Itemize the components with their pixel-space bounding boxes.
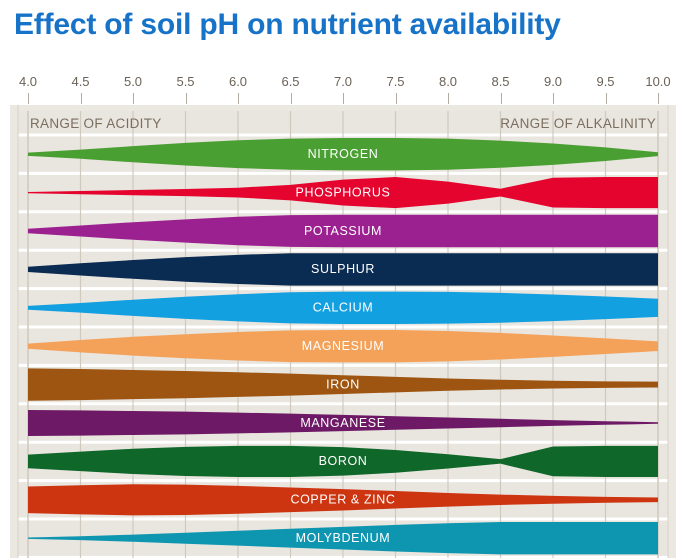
band-label: COPPER & ZINC — [290, 493, 395, 507]
range-of-acidity-label: RANGE OF ACIDITY — [30, 116, 162, 131]
axis-tick-label-7-0: 7.0 — [334, 74, 352, 89]
axis-tick-label-8-5: 8.5 — [491, 74, 509, 89]
axis-tick-label-5-0: 5.0 — [124, 74, 142, 89]
band-label: MOLYBDENUM — [296, 531, 391, 545]
nutrient-band-boron[interactable]: BORON — [28, 446, 658, 477]
soil-ph-chart-page: Effect of soil pH on nutrient availabili… — [0, 0, 685, 558]
axis-tick-label-4-5: 4.5 — [71, 74, 89, 89]
band-label: SULPHUR — [311, 262, 375, 276]
band-label: POTASSIUM — [304, 224, 382, 238]
axis-tick-label-4-0: 4.0 — [19, 74, 37, 89]
axis-tick-label-9-5: 9.5 — [596, 74, 614, 89]
axis-tick-label-6-0: 6.0 — [229, 74, 247, 89]
page-title: Effect of soil pH on nutrient availabili… — [14, 8, 561, 42]
band-label: NITROGEN — [308, 147, 379, 161]
band-label: CALCIUM — [313, 301, 373, 315]
band-label: MAGNESIUM — [302, 339, 385, 353]
nutrient-availability-plot: RANGE OF ACIDITYRANGE OF ALKALINITYNITRO… — [0, 100, 685, 558]
axis-tick-label-10-0: 10.0 — [645, 74, 670, 89]
band-label: PHOSPHORUS — [296, 185, 391, 199]
band-label: BORON — [319, 454, 368, 468]
band-label: IRON — [326, 377, 360, 391]
axis-tick-label-7-5: 7.5 — [386, 74, 404, 89]
axis-tick-label-6-5: 6.5 — [281, 74, 299, 89]
range-of-alkalinity-label: RANGE OF ALKALINITY — [500, 116, 656, 131]
axis-tick-label-8-0: 8.0 — [439, 74, 457, 89]
band-label: MANGANESE — [300, 416, 385, 430]
axis-tick-label-5-5: 5.5 — [176, 74, 194, 89]
axis-tick-label-9-0: 9.0 — [544, 74, 562, 89]
